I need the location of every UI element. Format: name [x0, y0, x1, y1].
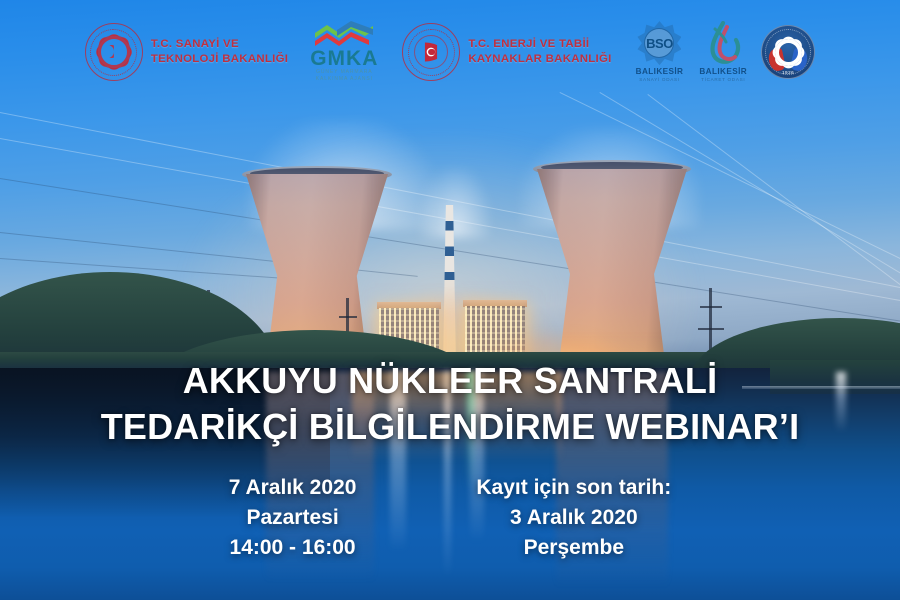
- gear-icon: [98, 36, 130, 68]
- gmka-wave-icon: [313, 21, 375, 47]
- bso-badge-icon: BSO: [637, 21, 681, 65]
- webinar-poster: T.C. SANAYİ VE TEKNOLOJİ BAKANLIĞI GMKA …: [0, 0, 900, 600]
- gmka-sub1: GÜNEY MARMARA: [316, 69, 372, 77]
- bso-abbr: BSO: [646, 36, 673, 51]
- deadline-label: Kayıt için son tarih:: [476, 473, 671, 503]
- bto-line2: TİCARET ODASI: [701, 77, 745, 83]
- bandirma-badge-icon: 1926: [761, 25, 815, 79]
- logo-enerji-line2: KAYNAKLAR BAKANLIĞI: [468, 52, 611, 67]
- bandirma-year: 1926: [762, 70, 814, 75]
- gear-icon: [775, 39, 802, 66]
- logo-enerji-text: T.C. ENERJİ VE TABİİ KAYNAKLAR BAKANLIĞI: [468, 37, 611, 67]
- event-time: 14:00 - 16:00: [229, 533, 357, 563]
- logo-enerji-line1: T.C. ENERJİ VE TABİİ: [468, 37, 611, 52]
- deadline-day: Perşembe: [476, 533, 671, 563]
- event-dates: 7 Aralık 2020 Pazartesi 14:00 - 16:00 Ka…: [0, 473, 900, 562]
- bto-swoosh-icon: [702, 21, 744, 65]
- logo-sanayi-line2: TEKNOLOJİ BAKANLIĞI: [151, 52, 288, 67]
- headline-line-2: TEDARİKÇİ BİLGİLENDİRME WEBINAR’I: [0, 404, 900, 450]
- gmka-sub2: KALKINMA AJANSI: [316, 76, 373, 84]
- logo-gmka: GMKA GÜNEY MARMARA KALKINMA AJANSI: [310, 21, 378, 84]
- event-date: 7 Aralık 2020: [229, 473, 357, 503]
- bso-line2: SANAYİ ODASI: [639, 77, 679, 83]
- turkish-state-emblem-icon: [85, 23, 143, 81]
- deadline-date: 3 Aralık 2020: [476, 503, 671, 533]
- logo-enerji-bakanligi: T.C. ENERJİ VE TABİİ KAYNAKLAR BAKANLIĞI: [402, 23, 611, 81]
- logo-balikesir-sanayi-odasi: BSO BALIKESİR SANAYİ ODASI: [636, 21, 684, 83]
- crescent-icon: [101, 45, 114, 58]
- turkish-flag-emblem-icon: [402, 23, 460, 81]
- logo-sanayi-line1: T.C. SANAYİ VE: [151, 37, 288, 52]
- bto-line1: BALIKESİR: [699, 67, 747, 77]
- steam-plume-stack: [420, 168, 490, 238]
- gmka-wordmark: GMKA: [310, 48, 378, 69]
- logo-balikesir-ticaret-odasi: BALIKESİR TİCARET ODASI: [699, 21, 747, 83]
- sponsor-logo-bar: T.C. SANAYİ VE TEKNOLOJİ BAKANLIĞI GMKA …: [0, 0, 900, 104]
- logo-sanayi-text: T.C. SANAYİ VE TEKNOLOJİ BAKANLIĞI: [151, 37, 288, 67]
- logo-bandirma-ticaret-sanayi-odasi: 1926: [761, 25, 815, 79]
- event-date-block: 7 Aralık 2020 Pazartesi 14:00 - 16:00: [229, 473, 357, 562]
- event-day: Pazartesi: [229, 503, 357, 533]
- registration-deadline-block: Kayıt için son tarih: 3 Aralık 2020 Perş…: [476, 473, 671, 562]
- poster-headline: AKKUYU NÜKLEER SANTRALİ TEDARİKÇİ BİLGİL…: [0, 358, 900, 449]
- bso-line1: BALIKESİR: [636, 67, 684, 77]
- headline-line-1: AKKUYU NÜKLEER SANTRALİ: [0, 358, 900, 404]
- logo-sanayi-bakanligi: T.C. SANAYİ VE TEKNOLOJİ BAKANLIĞI: [85, 23, 288, 81]
